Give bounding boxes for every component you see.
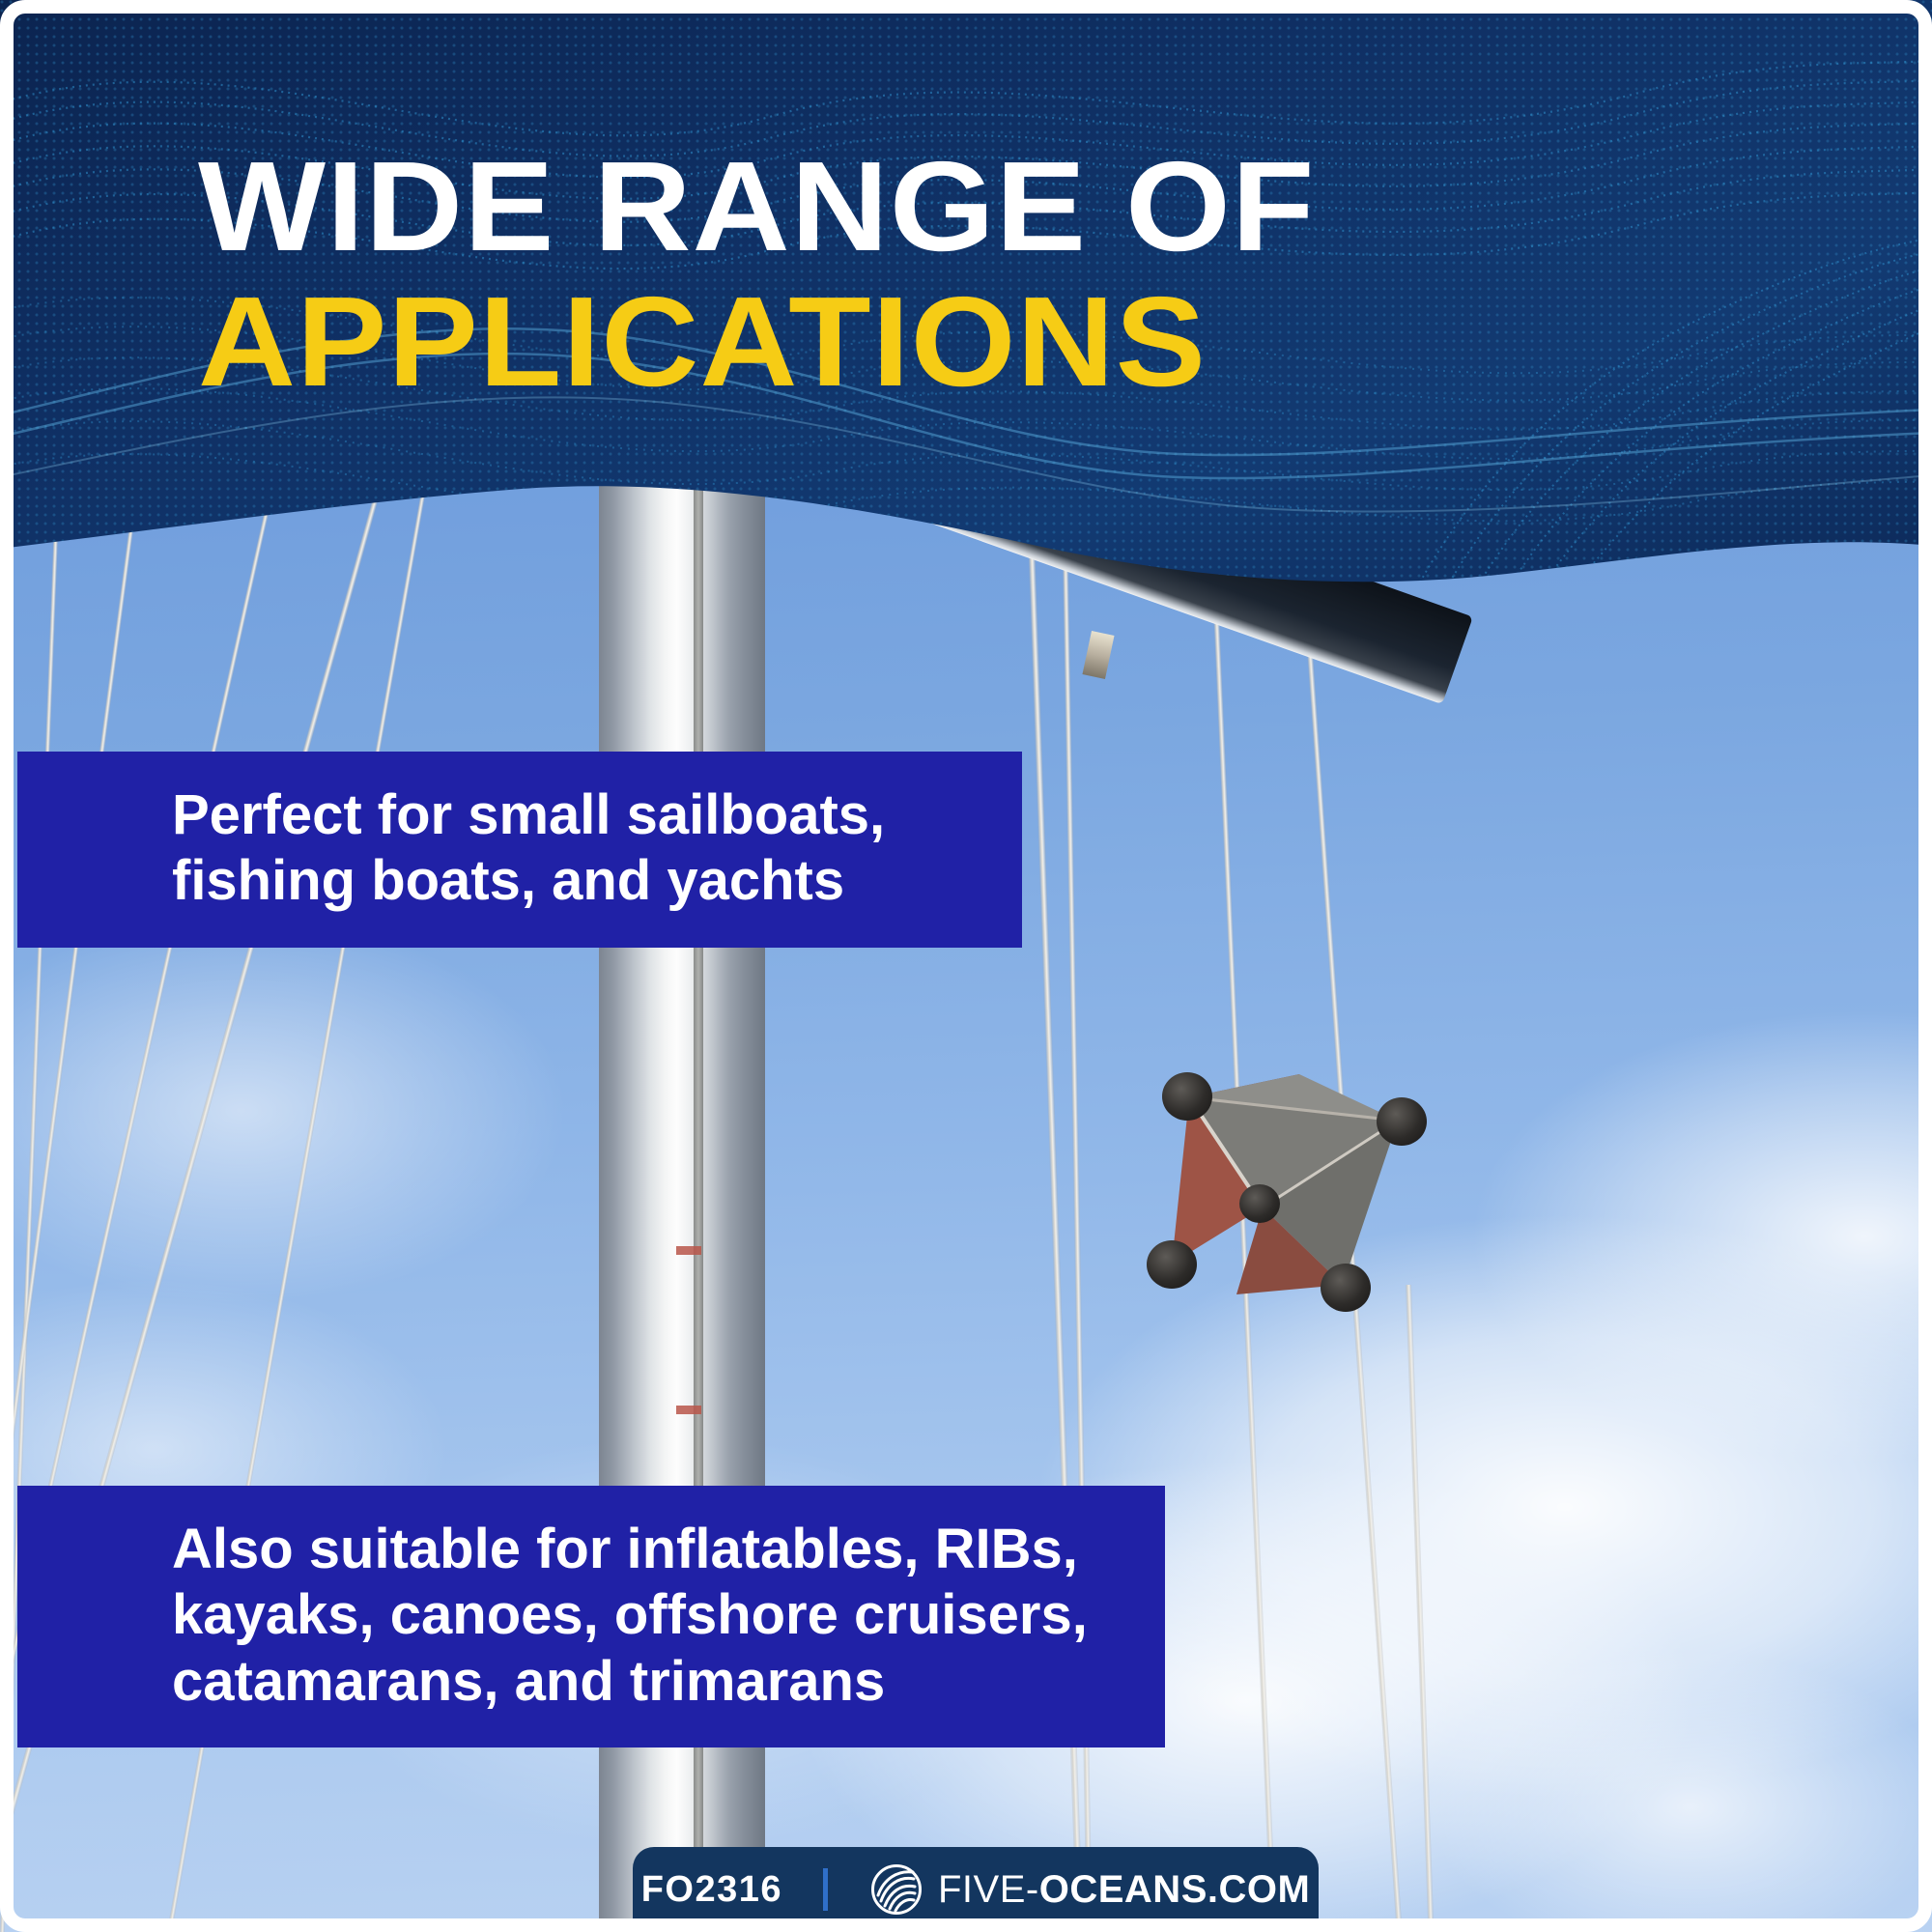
- callout-sailboats: Perfect for small sailboats, fishing boa…: [17, 752, 1022, 948]
- header-band: WIDE RANGE OF APPLICATIONS: [0, 0, 1932, 618]
- footer-badge: FO2316 FIVE-OCEANS.COM: [633, 1847, 1319, 1932]
- divider: [823, 1868, 828, 1911]
- brand-lockup: FIVE-OCEANS.COM: [870, 1863, 1310, 1916]
- callout-inflatables: Also suitable for inflatables, RIBs, kay…: [17, 1486, 1165, 1747]
- reflector-corner-cap: [1321, 1264, 1371, 1312]
- brand-name-light: FIVE-: [938, 1868, 1039, 1911]
- boom-fitting: [1082, 631, 1114, 679]
- callout-line: Perfect for small sailboats,: [172, 782, 983, 848]
- headline-line-1: WIDE RANGE OF: [198, 133, 1315, 279]
- headline-line-2: APPLICATIONS: [198, 269, 1207, 414]
- rigging-line: [1406, 1285, 1435, 1932]
- mast-marking: [676, 1406, 701, 1414]
- reflector-corner-cap: [1147, 1240, 1197, 1289]
- five-oceans-shell-icon: [870, 1863, 923, 1916]
- callout-line: catamarans, and trimarans: [172, 1649, 1126, 1715]
- callout-line: kayaks, canoes, offshore cruisers,: [172, 1582, 1126, 1648]
- reflector-corner-cap: [1377, 1097, 1427, 1146]
- reflector-corner-cap: [1239, 1184, 1280, 1223]
- reflector-corner-cap: [1162, 1072, 1212, 1121]
- marketing-poster: WIDE RANGE OF APPLICATIONS Perfect for s…: [0, 0, 1932, 1932]
- radar-reflector: [1145, 1005, 1430, 1294]
- brand-name: FIVE-OCEANS.COM: [938, 1868, 1310, 1912]
- callout-line: fishing boats, and yachts: [172, 848, 983, 914]
- brand-name-bold: OCEANS.COM: [1039, 1868, 1311, 1911]
- mast-marking: [676, 1246, 701, 1255]
- callout-line: Also suitable for inflatables, RIBs,: [172, 1517, 1126, 1582]
- sku-code: FO2316: [641, 1869, 782, 1911]
